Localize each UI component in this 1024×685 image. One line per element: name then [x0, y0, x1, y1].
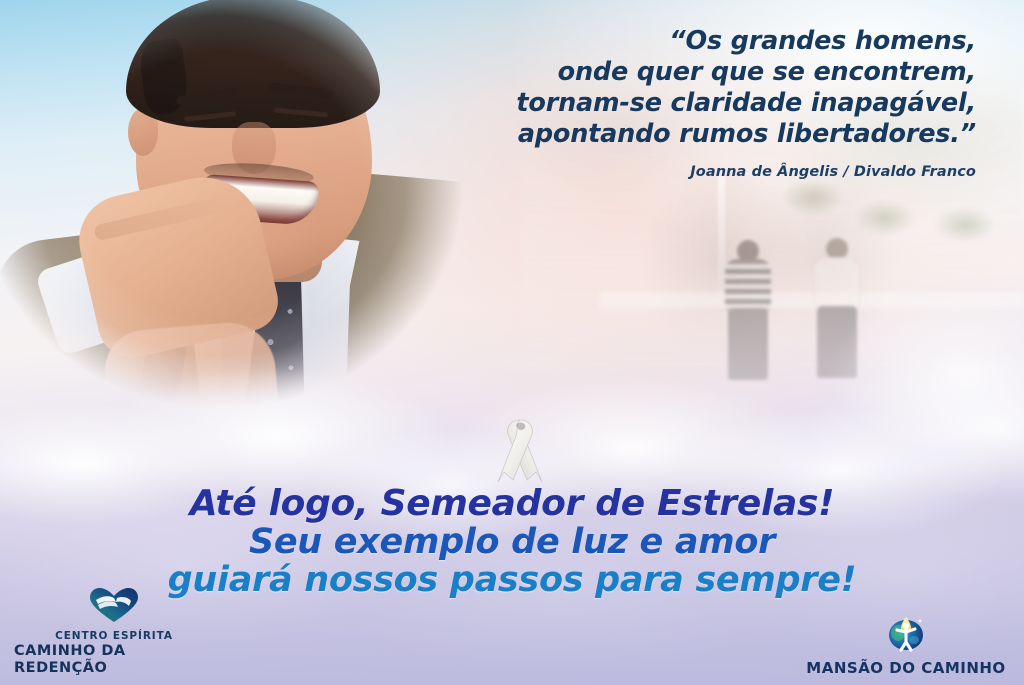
palm-tree-decor	[778, 170, 848, 240]
logo-left-line-2: CAMINHO DA REDENÇÃO	[14, 643, 214, 677]
quote-attribution: Joanna de Ângelis / Divaldo Franco	[356, 164, 976, 180]
memorial-poster: “Os grandes homens, onde quer que se enc…	[0, 0, 1024, 685]
globe-with-figure-icon	[883, 611, 929, 657]
quote-line-3: tornam-se claridade inapagável,	[356, 88, 976, 119]
logo-centro-espirita: CENTRO ESPÍRITA CAMINHO DA REDENÇÃO	[14, 587, 214, 677]
hair	[126, 0, 380, 128]
quote-line-4: apontando rumos libertadores.”	[356, 119, 976, 150]
logo-right-line-1: MANSÃO DO CAMINHO	[806, 660, 1005, 677]
headline-block: Até logo, Semeador de Estrelas! Seu exem…	[0, 485, 1024, 599]
palm-tree-decor	[930, 200, 1000, 262]
headline-line-2: Seu exemplo de luz e amor	[0, 523, 1024, 561]
heart-with-hands-icon	[89, 587, 139, 627]
quote-line-1: “Os grandes homens,	[356, 26, 976, 57]
quote-block: “Os grandes homens, onde quer que se enc…	[356, 26, 976, 180]
headline-line-1: Até logo, Semeador de Estrelas!	[0, 485, 1024, 523]
logo-left-line-1: CENTRO ESPÍRITA	[55, 630, 173, 643]
background-figure-striped-shirt	[718, 240, 778, 382]
background-figure-white-shirt	[806, 238, 868, 384]
hand-holding-microphone	[102, 319, 280, 437]
logo-mansao-do-caminho: MANSÃO DO CAMINHO	[796, 611, 1016, 677]
quote-line-2: onde quer que se encontrem,	[356, 57, 976, 88]
white-ribbon-icon	[486, 410, 554, 492]
